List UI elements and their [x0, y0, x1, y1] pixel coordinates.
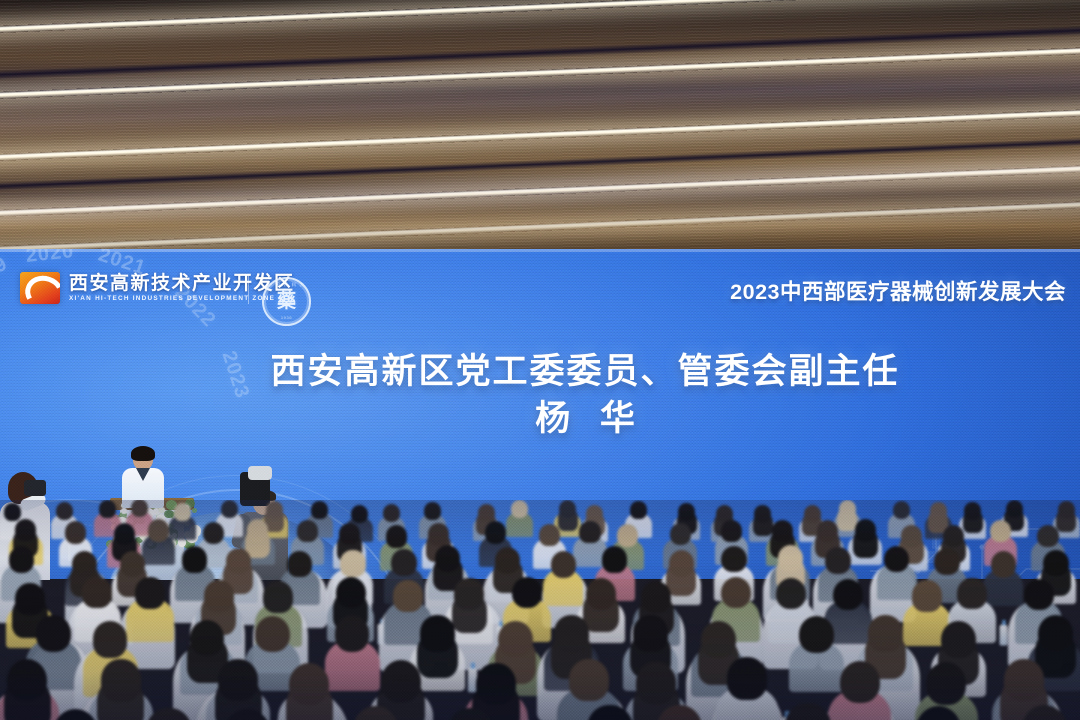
audience-head — [833, 579, 863, 611]
audience-head — [148, 519, 169, 541]
audience-head — [727, 657, 767, 699]
audience-long-hair — [558, 508, 578, 531]
hitech-zone-logo: 西安高新技术产业开发区 XI'AN HI-TECH INDUSTRIES DEV… — [20, 272, 295, 304]
audience-head — [36, 615, 71, 652]
audience-head — [926, 662, 966, 704]
audience-head — [65, 521, 86, 543]
seal-arc-text: 中 国 药 科 大 学 — [264, 282, 309, 294]
audience-head — [135, 577, 165, 609]
audience-long-hair — [583, 592, 618, 632]
logo-chinese-name: 西安高新技术产业开发区 — [69, 274, 295, 294]
audience-head — [776, 578, 806, 610]
audience-head — [990, 520, 1011, 542]
audience-head — [512, 577, 542, 609]
audience-head — [255, 616, 290, 653]
audience-head — [335, 615, 370, 652]
audience-head — [221, 500, 238, 518]
audience-head — [297, 520, 318, 542]
audience — [0, 500, 1080, 720]
audience-head — [721, 520, 742, 542]
speaker-person — [120, 448, 166, 506]
audience-head — [182, 546, 207, 573]
audience-head — [721, 546, 746, 573]
led-screen-top-edge — [0, 249, 1080, 252]
audience-head — [386, 525, 407, 547]
photo-camera-icon — [24, 480, 46, 496]
audience-head — [785, 703, 831, 720]
audience-head — [263, 581, 293, 613]
audience-long-hair — [97, 678, 144, 720]
audience-head — [4, 503, 21, 521]
audience-head — [131, 500, 148, 517]
audience-head — [840, 661, 880, 703]
audience-head — [340, 550, 365, 577]
audience-head — [912, 580, 942, 612]
audience-head — [485, 521, 506, 543]
audience-head — [311, 501, 328, 519]
audience-head — [825, 547, 850, 574]
audience-head — [991, 551, 1016, 578]
audience-head — [551, 551, 576, 578]
audience-head — [56, 502, 73, 520]
audience-long-hair — [452, 593, 487, 633]
audience-long-hair — [753, 513, 773, 536]
audience-long-hair — [417, 632, 458, 679]
conference-photo: 20192020202120222023 — [0, 0, 1080, 720]
audience-long-hair — [286, 682, 333, 720]
university-seal-icon: 中 国 药 科 大 学 藥 1936 — [262, 277, 311, 326]
audience-long-hair — [853, 529, 878, 558]
audience-long-hair — [1056, 509, 1076, 532]
audience-head — [203, 522, 224, 544]
audience-head — [569, 659, 609, 701]
audience-head — [1024, 579, 1054, 611]
audience-head — [799, 616, 834, 653]
audience-head — [934, 548, 959, 575]
audience-head — [617, 524, 638, 546]
water-bottle — [999, 625, 1007, 646]
audience-head — [174, 503, 191, 521]
audience-head — [9, 546, 34, 573]
audience-head — [579, 521, 600, 543]
audience-head — [602, 546, 627, 573]
speaker-position: 西安高新区党工委委员、管委会副主任 — [0, 350, 1080, 395]
audience-head — [957, 578, 987, 610]
seal-character: 藥 — [277, 292, 296, 311]
audience-people — [0, 500, 1080, 720]
audience-head — [424, 502, 441, 520]
audience-head — [393, 580, 423, 612]
audience-head — [383, 504, 400, 522]
logo-english-name: XI'AN HI-TECH INDUSTRIES DEVELOPMENT ZON… — [69, 295, 295, 302]
speaker-name: 杨 华 — [0, 395, 1080, 442]
audience-long-hair — [666, 562, 696, 596]
audience-head — [99, 500, 116, 518]
audience-head — [287, 551, 312, 578]
camera-lens — [248, 466, 272, 480]
audience-head — [82, 577, 112, 609]
audience-long-hair — [4, 678, 51, 720]
audience-head — [539, 524, 560, 546]
ceiling — [0, 0, 1080, 262]
seal-sub-text: 1936 — [264, 315, 309, 320]
audience-long-hair — [963, 510, 983, 533]
audience-head — [511, 500, 528, 518]
audience-head — [893, 501, 910, 519]
audience-head — [630, 501, 647, 519]
speaker-title-block: 西安高新区党工委委员、管委会副主任 杨 华 — [0, 350, 1080, 442]
swoosh-logo-icon — [20, 272, 60, 304]
audience-head — [351, 505, 368, 523]
audience-head — [1037, 525, 1058, 547]
audience-head — [884, 546, 909, 573]
logo-divider — [248, 274, 249, 304]
speaker-hair — [131, 446, 155, 461]
audience-head — [721, 577, 751, 609]
audience-head — [391, 549, 416, 576]
conference-title: 2023中西部医疗器械创新发展大会 — [730, 275, 1066, 306]
audience-head — [670, 523, 691, 545]
audience-head — [93, 621, 128, 658]
